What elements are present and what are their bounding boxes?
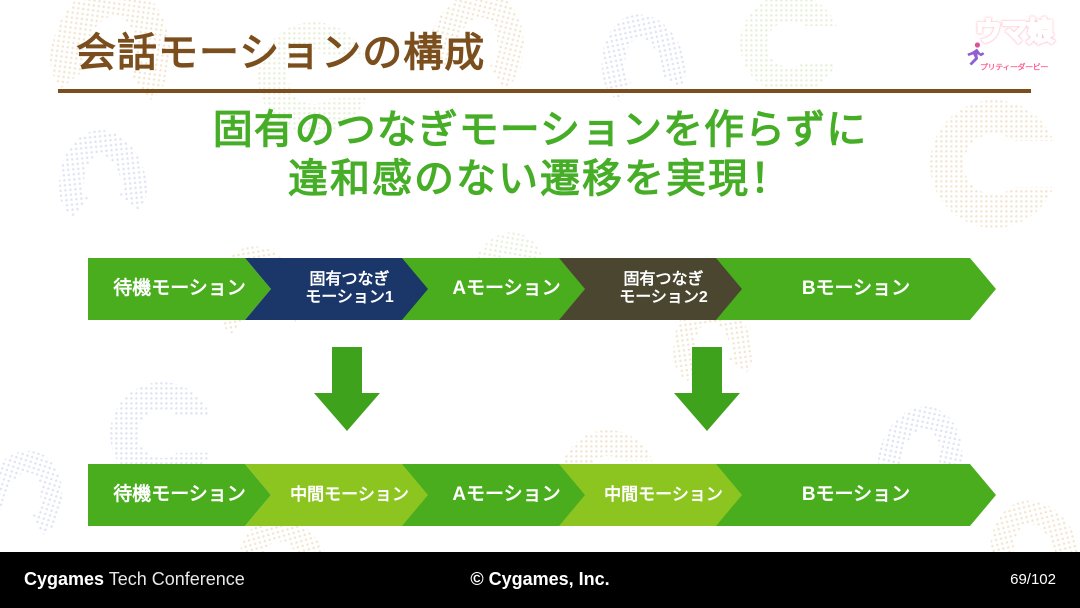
chevron-label: 固有つなぎ xyxy=(305,271,394,289)
chevron-step-after-5: Bモーション xyxy=(716,464,996,526)
down-arrow-icon xyxy=(674,347,740,431)
chevron-label: 中間モーション xyxy=(604,485,723,504)
chevron-label: Aモーション xyxy=(452,484,560,505)
headline-line-2: 違和感のない遷移を実現！ xyxy=(0,155,1080,204)
down-arrow-icon xyxy=(314,347,380,431)
headline: 固有のつなぎモーションを作らずに 違和感のない遷移を実現！ xyxy=(0,106,1080,204)
horseshoe-watermark xyxy=(0,440,76,548)
footer-copyright: © Cygames, Inc. xyxy=(0,569,1080,590)
arrow-head xyxy=(674,393,740,431)
chevron-label: Bモーション xyxy=(802,484,910,505)
page-title: 会話モーションの構成 xyxy=(76,20,485,78)
arrow-shaft xyxy=(692,347,722,395)
arrow-head xyxy=(314,393,380,431)
headline-line-1: 固有のつなぎモーションを作らずに xyxy=(0,106,1080,155)
chevron-label: 待機モーション xyxy=(113,484,246,505)
chevron-label-line2: モーション2 xyxy=(619,289,708,307)
uma-musume-logo: ウマ娘 プリティーダービー xyxy=(958,8,1070,74)
chevron-step-before-5: Bモーション xyxy=(716,258,996,320)
chevron-label: 待機モーション xyxy=(113,278,246,299)
logo-main-text: ウマ娘 xyxy=(958,10,1070,49)
chevron-label: Bモーション xyxy=(802,278,910,299)
footer-bar: Cygames Tech Conference © Cygames, Inc. … xyxy=(0,552,1080,608)
c-letter-watermark xyxy=(740,0,840,94)
arrow-shaft xyxy=(332,347,362,395)
chevron-label: Aモーション xyxy=(452,278,560,299)
chevron-step-before-1: 待機モーション xyxy=(88,258,271,320)
chevron-label-line2: モーション1 xyxy=(305,289,394,307)
horseshoe-watermark xyxy=(591,6,692,113)
chevron-row-after: 待機モーション中間モーションAモーション中間モーションBモーション xyxy=(88,464,996,526)
chevron-row-before: 待機モーション固有つなぎモーション1Aモーション固有つなぎモーション2Bモーショ… xyxy=(88,258,996,320)
chevron-step-after-1: 待機モーション xyxy=(88,464,271,526)
title-divider xyxy=(58,89,1031,93)
chevron-label: 中間モーション xyxy=(290,485,409,504)
footer-page-number: 69/102 xyxy=(1010,571,1056,588)
chevron-label: 固有つなぎ xyxy=(619,271,708,289)
logo-sub-text: プリティーダービー xyxy=(958,63,1070,73)
